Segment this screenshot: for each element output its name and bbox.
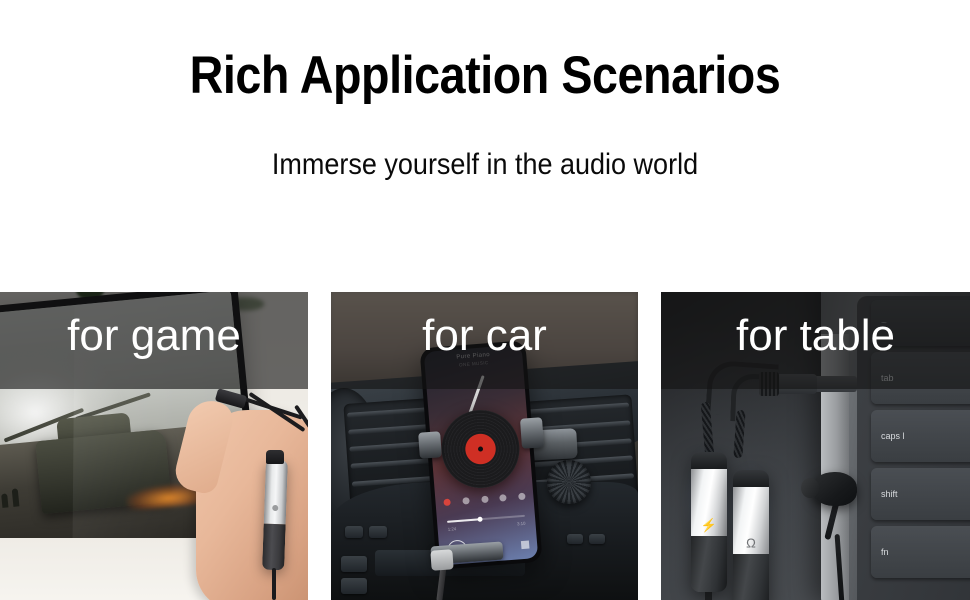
dongle-body-top <box>264 460 288 525</box>
dongle-cord <box>272 568 276 600</box>
page-subtitle: Immerse yourself in the audio world <box>49 148 922 182</box>
progress-fill <box>447 518 480 523</box>
remaining-time: 3:10 <box>517 521 526 527</box>
progress-knob[interactable] <box>477 517 482 522</box>
soldier-figure <box>1 494 8 509</box>
dongle-body-bottom <box>262 523 286 570</box>
key-fn[interactable]: fn <box>871 526 970 578</box>
mount-clamp-right <box>520 417 544 448</box>
scenario-panel-table[interactable]: ~ tab caps l shift fn <box>661 292 970 600</box>
panel-label-game: for game <box>0 312 308 360</box>
console-button[interactable] <box>567 534 583 544</box>
comment-icon[interactable] <box>481 496 489 504</box>
scenario-panel-row: for game <box>0 292 970 600</box>
panel-label-car: for car <box>331 312 638 360</box>
key-shift[interactable]: shift <box>871 468 970 520</box>
console-button[interactable] <box>589 534 605 544</box>
audio-plug <box>430 549 453 570</box>
console-button[interactable] <box>341 556 367 572</box>
time-row: 1:24 3:10 <box>448 521 526 532</box>
favorite-icon[interactable] <box>443 499 451 507</box>
scenario-panel-game[interactable]: for game <box>0 292 308 600</box>
panel-label-table: for table <box>661 312 970 360</box>
audio-adapter-dongle <box>262 460 288 571</box>
console-button[interactable] <box>369 526 387 538</box>
page-title: Rich Application Scenarios <box>58 48 912 104</box>
key-label: caps l <box>871 431 905 441</box>
dongle-cap <box>691 452 727 469</box>
vent-mount-knob <box>547 460 591 504</box>
headings-block: Rich Application Scenarios Immerse yours… <box>0 0 970 182</box>
key-label: fn <box>871 547 889 557</box>
dongle-cap <box>733 470 769 487</box>
more-icon[interactable] <box>518 493 526 501</box>
earbud-tip <box>801 478 819 498</box>
dongle-foot <box>691 536 727 592</box>
key-label: shift <box>871 489 898 499</box>
playlist-icon[interactable] <box>521 541 530 550</box>
dongle-foot <box>733 554 769 600</box>
dongle-cap <box>266 450 284 464</box>
elapsed-time: 1:24 <box>448 526 457 532</box>
key-caps-lock[interactable]: caps l <box>871 410 970 462</box>
vinyl-hub <box>478 446 483 451</box>
headphone-icon: Ω <box>746 536 756 549</box>
lightning-bolt-icon: ⚡ <box>701 518 717 531</box>
scenario-panel-car[interactable]: Pure Piano ONE MUSIC <box>331 292 638 600</box>
share-icon[interactable] <box>462 497 470 505</box>
charging-dongle: ⚡ <box>691 452 727 592</box>
console-button[interactable] <box>341 578 367 594</box>
audio-dongle: Ω <box>733 470 769 600</box>
mount-clamp-left <box>418 431 442 458</box>
console-button[interactable] <box>345 526 363 538</box>
download-icon[interactable] <box>499 494 507 502</box>
